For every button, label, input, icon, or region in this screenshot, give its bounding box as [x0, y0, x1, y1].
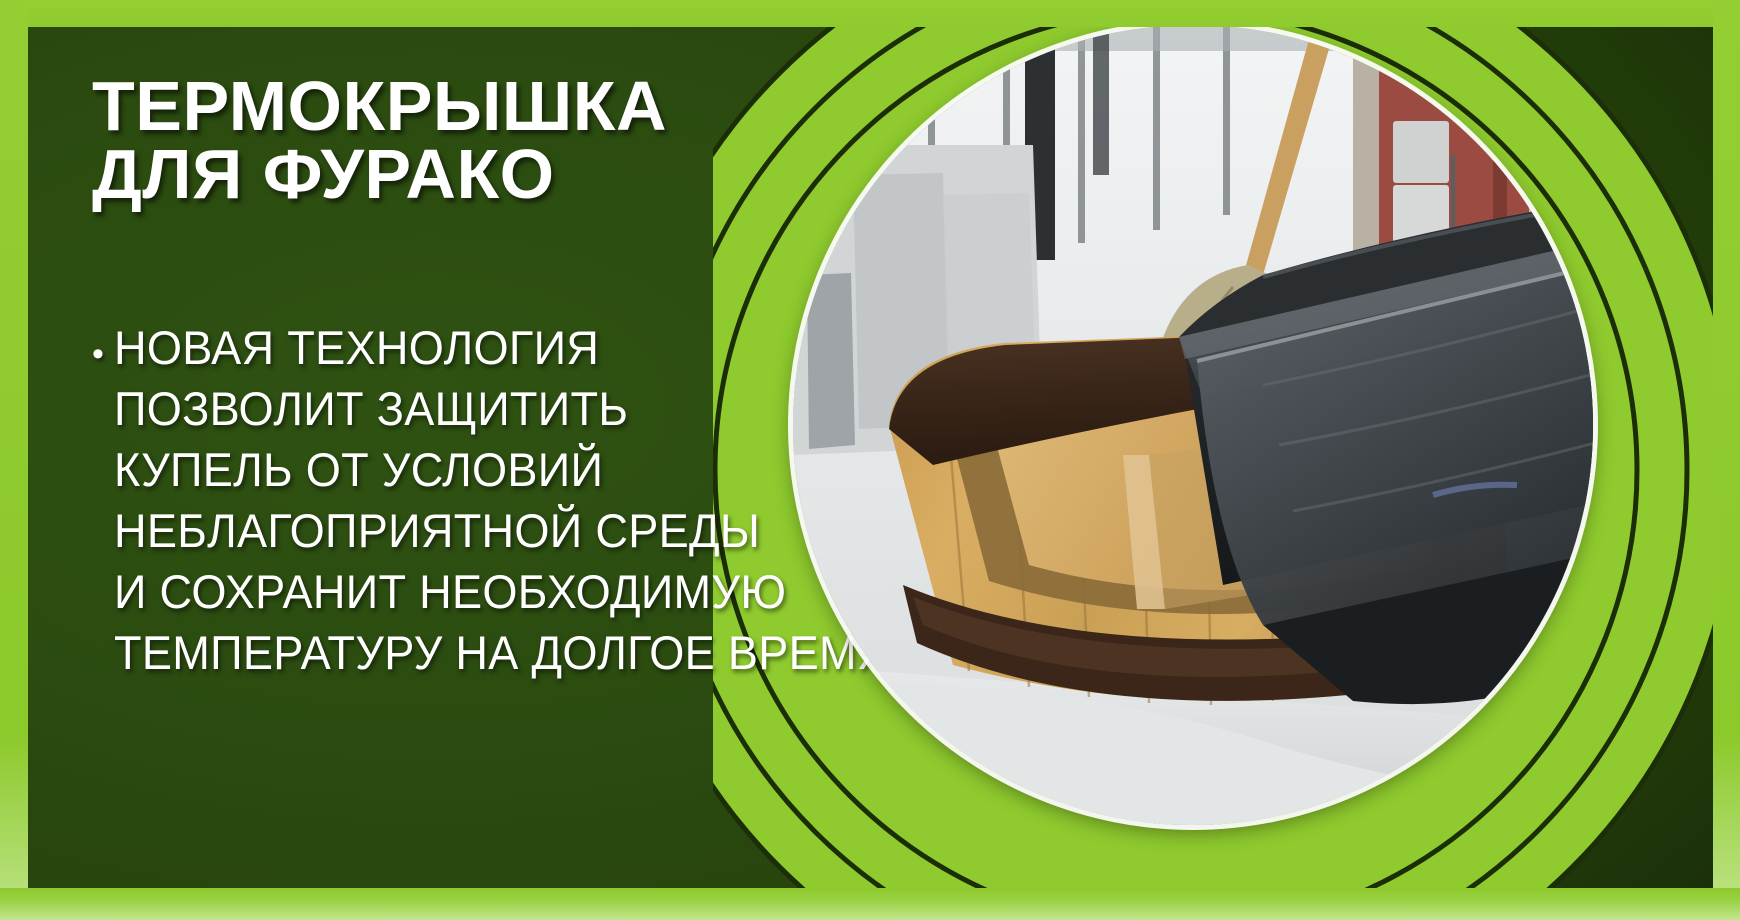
promo-banner: ТЕРМОКРЫШКА ДЛЯ ФУРАКО • НОВАЯ ТЕХНОЛОГИ… — [0, 0, 1740, 920]
frame-band-top — [0, 0, 1740, 27]
bullet-marker-icon: • — [92, 337, 104, 371]
frame-band-left — [0, 0, 28, 920]
frame-band-bottom — [0, 888, 1740, 920]
furako-hot-tub-illustration — [793, 27, 1593, 825]
feature-bullet-text: НОВАЯ ТЕХНОЛОГИЯ ПОЗВОЛИТ ЗАЩИТИТЬ КУПЕЛ… — [114, 317, 890, 684]
product-photo — [793, 27, 1593, 825]
dark-panel: ТЕРМОКРЫШКА ДЛЯ ФУРАКО • НОВАЯ ТЕХНОЛОГИ… — [28, 27, 1713, 888]
product-photo-circle — [793, 27, 1593, 825]
frame-band-right — [1713, 0, 1740, 920]
